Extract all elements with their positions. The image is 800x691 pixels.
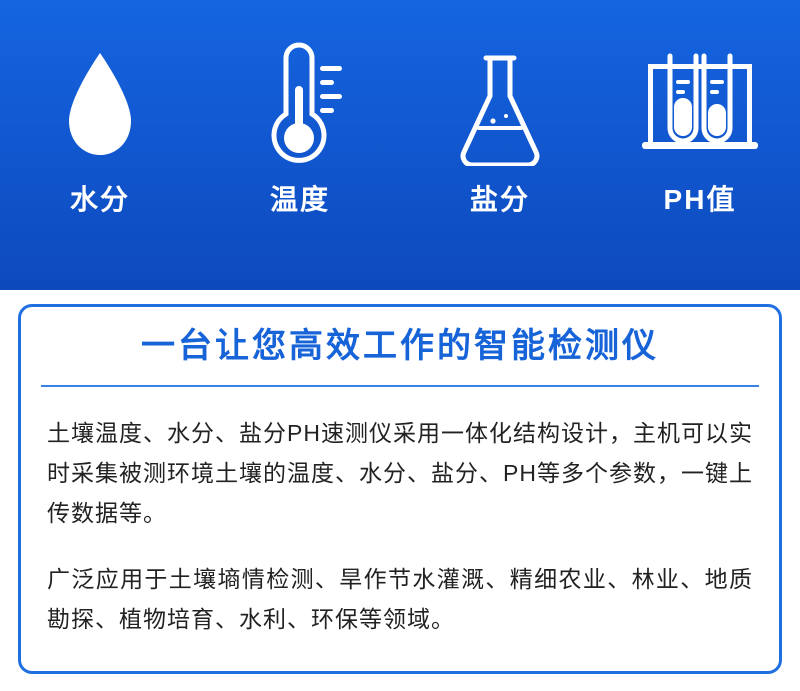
card-title: 一台让您高效工作的智能检测仪 [141, 329, 659, 363]
product-info-page: 水分 [0, 0, 800, 691]
feature-banner: 水分 [0, 0, 800, 290]
feature-item-temperature: 温度 [200, 40, 400, 214]
banner-card-gap [0, 290, 800, 304]
feature-label: 盐分 [470, 186, 530, 214]
title-divider [41, 385, 759, 387]
feature-item-ph: PH值 [600, 40, 800, 214]
flask-icon [444, 40, 556, 170]
card-title-area: 一台让您高效工作的智能检测仪 [21, 307, 779, 385]
feature-label: PH值 [664, 186, 737, 214]
product-description-card: 一台让您高效工作的智能检测仪 土壤温度、水分、盐分PH速测仪采用一体化结构设计，… [18, 304, 782, 674]
feature-label: 水分 [70, 186, 130, 214]
description-paragraph-2: 广泛应用于土壤墒情检测、旱作节水灌溉、精细农业、林业、地质勘探、植物培育、水利、… [47, 559, 753, 639]
feature-list: 水分 [0, 0, 800, 290]
test-tube-rack-icon [640, 40, 760, 170]
card-body: 土壤温度、水分、盐分PH速测仪采用一体化结构设计，主机可以实时采集被测环境土壤的… [21, 387, 779, 639]
feature-item-moisture: 水分 [0, 40, 200, 214]
water-drop-icon [57, 40, 143, 170]
thermometer-icon [250, 40, 350, 170]
description-paragraph-1: 土壤温度、水分、盐分PH速测仪采用一体化结构设计，主机可以实时采集被测环境土壤的… [47, 413, 753, 533]
feature-label: 温度 [270, 186, 330, 214]
feature-item-salinity: 盐分 [400, 40, 600, 214]
